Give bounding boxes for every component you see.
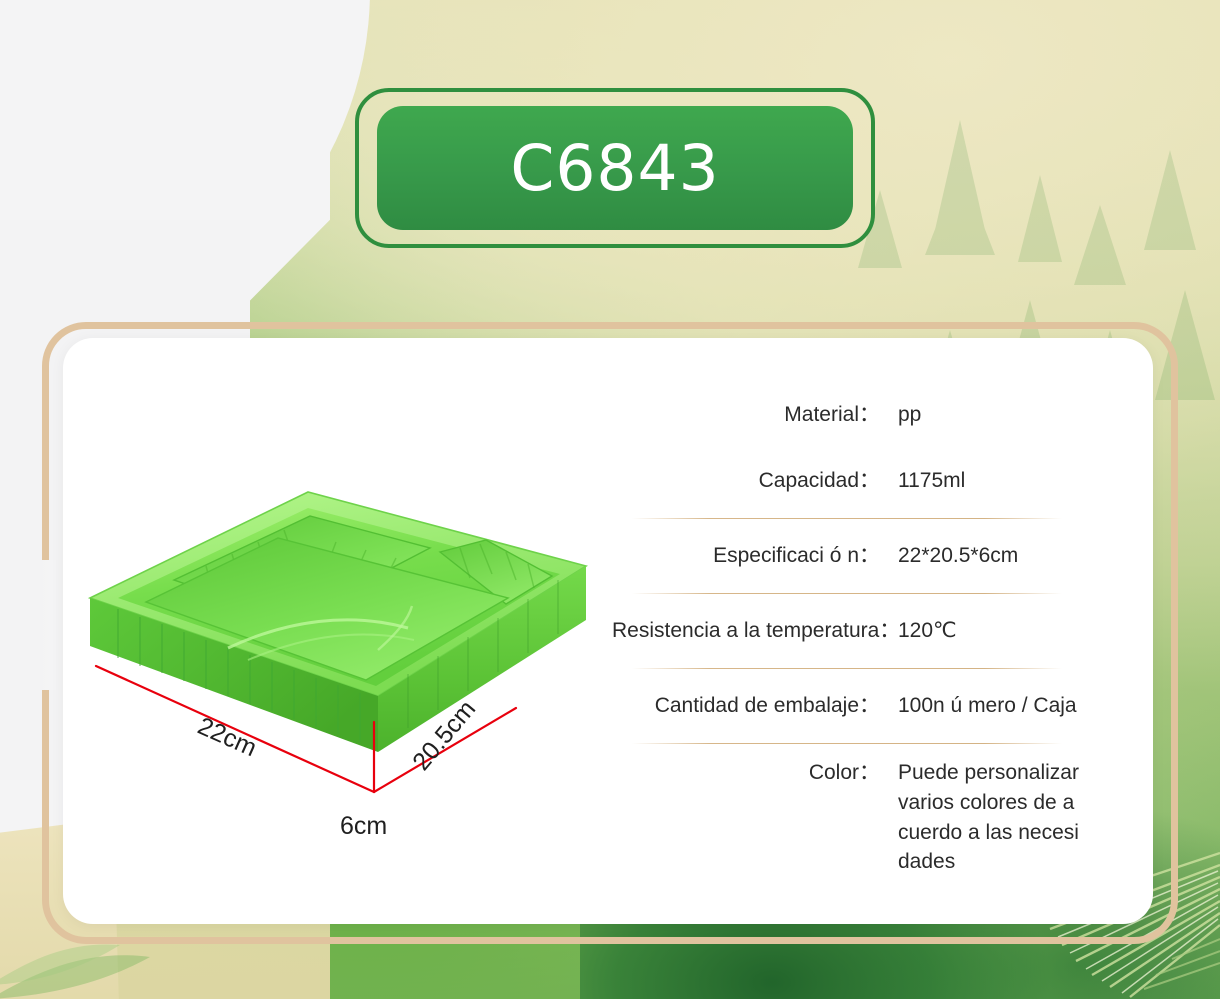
spec-label-color: Color： [612, 758, 884, 788]
spec-label-resistencia: Resistencia a la temperatura： [612, 617, 884, 645]
badge-fill: C6843 [377, 106, 853, 230]
svg-text:6cm: 6cm [340, 812, 387, 840]
spec-row-especificacion: Especificaci ó n： 22*20.5*6cm [612, 519, 1082, 593]
spec-row-color: Color： Puede personalizar varios colores… [612, 744, 1082, 877]
spec-row-capacidad: Capacidad： 1175ml [612, 444, 1082, 518]
product-code-text: C6843 [510, 137, 719, 200]
spec-label-especificacion: Especificaci ó n： [612, 542, 884, 570]
spec-label-cantidad: Cantidad de embalaje： [612, 692, 884, 720]
product-spec-page: C6843 [0, 0, 1220, 999]
spec-row-material: Material： pp [612, 386, 1082, 444]
specification-table: Material： pp Capacidad： 1175ml Especific… [612, 386, 1082, 877]
spec-value-cantidad: 100n ú mero / Caja [884, 692, 1082, 720]
spec-label-capacidad: Capacidad： [612, 467, 884, 495]
spec-value-capacidad: 1175ml [884, 467, 1082, 495]
spec-value-color: Puede personalizar varios colores de acu… [884, 758, 1082, 877]
card-frame-gap [36, 560, 56, 690]
spec-value-material: pp [884, 401, 1082, 429]
spec-value-resistencia: 120℃ [884, 617, 1082, 645]
spec-row-resistencia: Resistencia a la temperatura： 120℃ [612, 594, 1082, 668]
product-image: 22cm 20.5cm 6cm [78, 470, 598, 870]
svg-text:22cm: 22cm [194, 712, 261, 762]
spec-row-cantidad: Cantidad de embalaje： 100n ú mero / Caja [612, 669, 1082, 743]
spec-label-material: Material： [612, 401, 884, 429]
product-code-badge: C6843 [355, 88, 875, 248]
spec-value-especificacion: 22*20.5*6cm [884, 542, 1082, 570]
